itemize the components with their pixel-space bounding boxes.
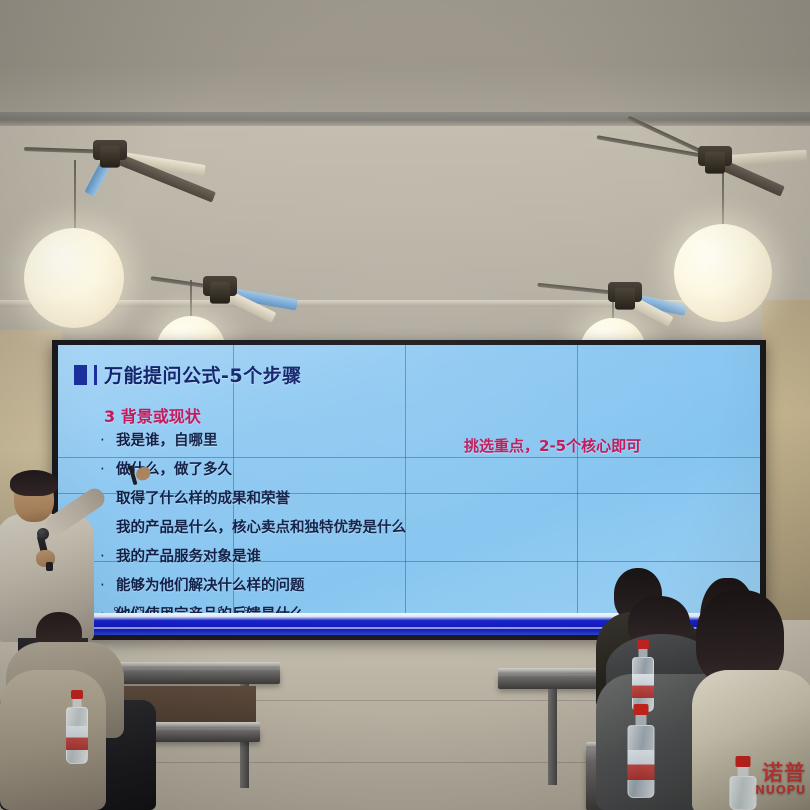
bullet-marker: · [100,433,107,448]
list-item: · 我是谁，自哪里 [100,429,460,458]
trailing-dot [140,607,144,611]
presenter-badge [46,562,53,571]
bullet-text: 能够为他们解决什么样的问题 [116,574,305,595]
bullet-text: 我的产品是什么，核心卖点和独特优势是什么 [116,516,406,537]
bottle-label [66,726,88,750]
slide-bullet-list: · 我是谁，自哪里 · 做什么，做了多久 · 取得了什么样的成果和荣誉 我的产品… [100,429,460,635]
microphone-head [37,528,49,540]
blue-square-marker-icon [74,365,87,385]
trailing-dot [166,607,170,611]
trailing-dot [192,607,196,611]
slide-title-row: 万能提问公式-5个步骤 [74,361,302,388]
pendant-cord [722,170,724,228]
bottle-cap [71,690,83,699]
bullet-text: 我的产品服务对象是谁 [116,545,261,566]
bottle-neck [639,649,648,657]
bottle-neck [73,699,82,707]
list-item: · 能够为他们解决什么样的问题 [100,574,460,603]
trailing-dot [244,607,248,611]
fan-motor [615,288,635,310]
ceiling [0,0,810,120]
desk-leg [548,689,557,785]
slide-annotation: 挑选重点，2-5个核心即可 [464,435,641,456]
pendant-globe-light [674,224,772,322]
bottle-cap [634,704,649,715]
fan-motor [210,282,230,304]
watermark-subtext: NUOPU [755,784,806,797]
panel-seam [577,345,578,635]
trailing-dots-row [114,607,248,611]
list-item: · 我的产品服务对象是谁 [100,545,460,574]
pendant-globe-light [24,228,124,328]
water-bottle [626,704,656,798]
water-bottle [64,690,90,764]
bottle-cap [637,640,649,649]
presenter-hair [10,470,58,496]
list-item: · 做什么，做了多久 [100,458,460,487]
water-bottle [630,640,656,712]
bottle-label [632,674,654,698]
fan-motor [705,152,725,174]
watermark-text: 诺普 [755,762,806,784]
list-item: 我的产品是什么，核心卖点和独特优势是什么 [100,516,460,545]
slide-title: 万能提问公式-5个步骤 [104,361,302,388]
bottle-neck [636,715,647,725]
pendant-cord [74,160,76,232]
bullet-text: 我是谁，自哪里 [116,429,218,450]
desk [150,728,260,742]
slide-subheading: 3 背景或现状 [104,403,201,427]
watermark: 诺普 NUOPU [704,754,806,804]
bullet-text: 取得了什么样的成果和荣誉 [116,487,290,508]
blue-bar-marker-icon [94,365,97,385]
bottle-label [628,750,655,780]
person-body [0,670,106,810]
audience-member-left [0,650,110,810]
list-item: · 取得了什么样的成果和荣誉 [100,487,460,516]
trailing-dot [218,607,222,611]
photo-scene: 万能提问公式-5个步骤 3 背景或现状 · 我是谁，自哪里 · 做什么，做了多久… [0,0,810,810]
ceiling-fan-top-right [610,126,810,186]
ceiling-fan-top-left [10,120,210,180]
ceiling-fan-mid-left [130,262,310,310]
fan-motor [100,146,120,168]
